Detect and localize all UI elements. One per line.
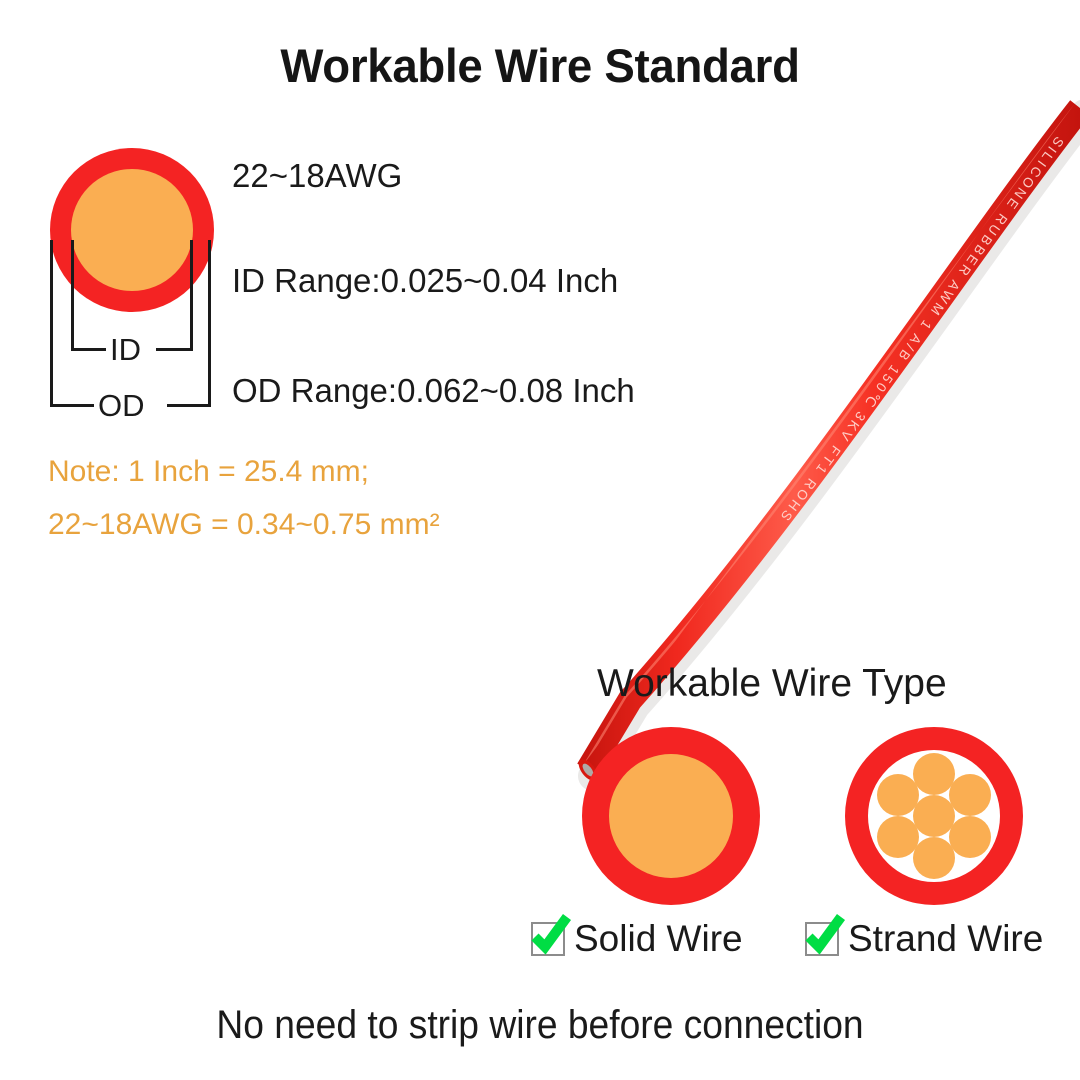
id-dimension-line-left (71, 348, 111, 351)
checkbox-label-strand-wire: Strand Wire (848, 918, 1043, 960)
wire-type-heading: Workable Wire Type (597, 662, 947, 706)
checkbox-row-solid-wire[interactable]: Solid Wire (531, 918, 743, 960)
checkbox-solid-wire[interactable] (531, 922, 565, 956)
checkbox-strand-wire[interactable] (805, 922, 839, 956)
strand-upper-right (949, 774, 991, 816)
od-extension-line-right (208, 240, 211, 406)
strand-bottom (913, 837, 955, 879)
od-dimension-line-right (167, 404, 211, 407)
conductor-core (71, 169, 193, 291)
checkbox-label-solid-wire: Solid Wire (574, 918, 743, 960)
strand-upper-left (877, 774, 919, 816)
infographic-page: Workable Wire Standard ID OD 22~18AWG ID… (0, 0, 1080, 1080)
wire-printed-legend: SILICONE RUBBER AWM 1 A/B 150℃ 3KV FT1 R… (776, 134, 1067, 526)
solid-conductor (609, 754, 733, 878)
strand-lower-right (949, 816, 991, 858)
id-dimension-label: ID (106, 334, 145, 365)
id-extension-line-left (71, 240, 74, 350)
silicone-wire-photo: SILICONE RUBBER AWM 1 A/B 150℃ 3KV FT1 R… (330, 70, 1080, 830)
od-extension-line-left (50, 240, 53, 406)
check-icon (803, 913, 847, 957)
od-dimension-label: OD (94, 390, 149, 421)
footer-caption: No need to strip wire before connection (38, 1003, 1042, 1048)
strand-lower-left (877, 816, 919, 858)
wire-cross-section-diagram: ID OD (44, 148, 220, 418)
check-icon (529, 913, 573, 957)
checkbox-row-strand-wire[interactable]: Strand Wire (805, 918, 1043, 960)
note-line-1: Note: 1 Inch = 25.4 mm; (48, 455, 369, 489)
id-dimension-line-right (156, 348, 193, 351)
od-dimension-line-left (50, 404, 100, 407)
id-extension-line-right (190, 240, 193, 350)
